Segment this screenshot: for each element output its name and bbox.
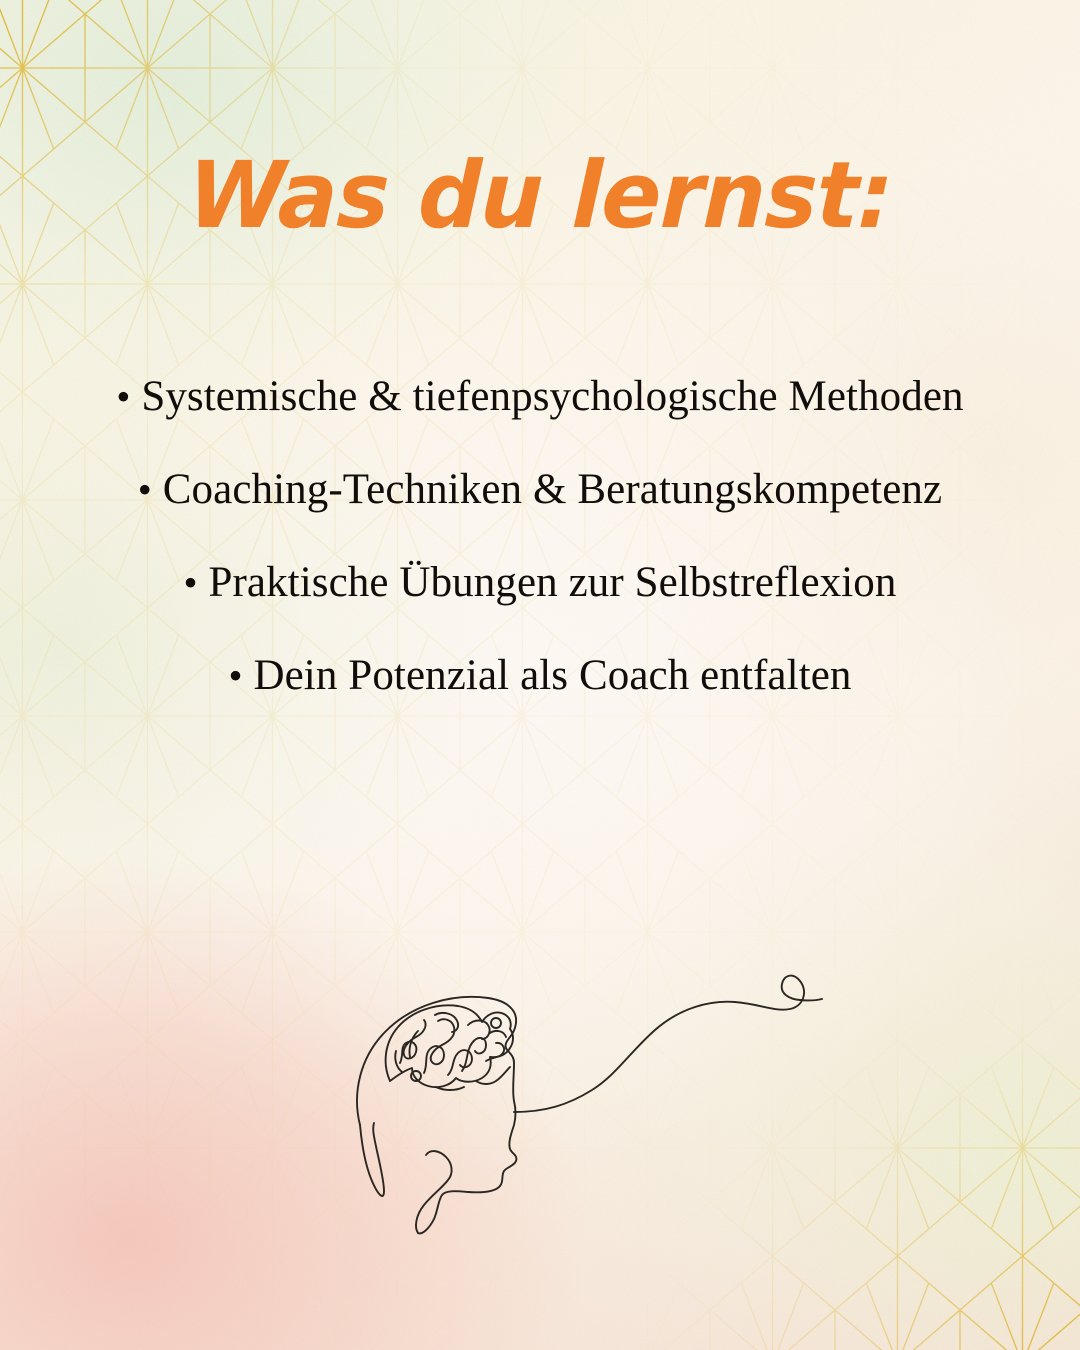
bullet-marker-icon: • [229, 653, 243, 698]
list-item: • Systemische & tiefenpsychologische Met… [110, 372, 970, 421]
head-profile-with-brain-icon [330, 905, 830, 1235]
poster-canvas: Was du lernst: • Systemische & tiefenpsy… [0, 0, 1080, 1350]
page-title: Was du lernst: [20, 150, 1060, 242]
list-item: • Dein Potenzial als Coach entfalten [110, 651, 970, 700]
list-item-label: Praktische Übungen zur Selbstreflexion [208, 559, 896, 606]
learning-outcomes-list: • Systemische & tiefenpsychologische Met… [110, 372, 970, 700]
bullet-marker-icon: • [138, 467, 152, 512]
list-item: • Coaching-Techniken & Beratungskompeten… [110, 465, 970, 514]
bullet-marker-icon: • [183, 560, 197, 605]
list-item: • Praktische Übungen zur Selbstreflexion [110, 558, 970, 607]
poster-content: Was du lernst: • Systemische & tiefenpsy… [0, 0, 1080, 1350]
list-item-label: Coaching-Techniken & Beratungskompetenz [163, 466, 942, 513]
bullet-marker-icon: • [116, 374, 130, 419]
list-item-label: Systemische & tiefenpsychologische Metho… [141, 373, 963, 420]
list-item-label: Dein Potenzial als Coach entfalten [253, 652, 851, 699]
